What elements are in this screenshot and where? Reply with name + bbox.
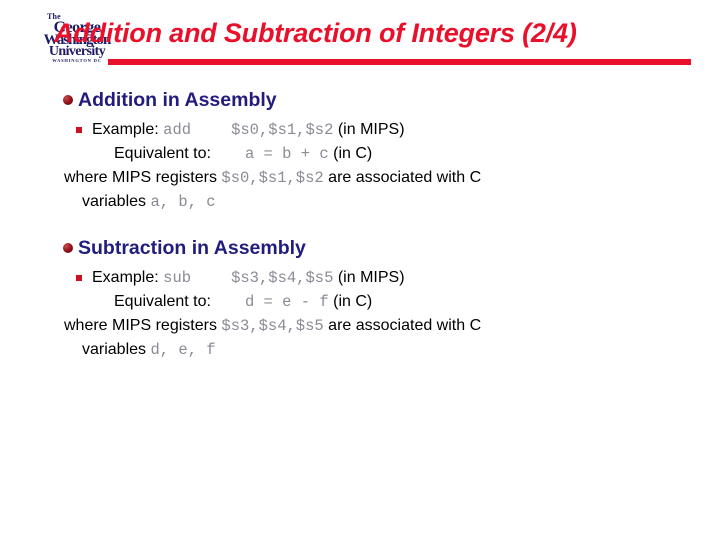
line-code-variables: d, e, f <box>150 341 215 359</box>
list-item: Example: add$s0,$s1,$s2 (in MIPS) <box>92 118 720 142</box>
list-item: where MIPS registers $s3,$s4,$s5 are ass… <box>64 314 720 338</box>
section-addition-lines: Example: add$s0,$s1,$s2 (in MIPS) Equiva… <box>0 118 720 214</box>
line-code-expression: d = e - f <box>245 293 329 311</box>
line-code-registers: $s0,$s1,$s2 <box>221 169 323 187</box>
line-label: variables <box>82 193 146 210</box>
heading-text: Addition in Assembly <box>78 89 277 111</box>
section-subtraction-lines: Example: sub$s3,$s4,$s5 (in MIPS) Equiva… <box>0 266 720 362</box>
heading-text: Subtraction in Assembly <box>78 237 306 259</box>
line-code-operands: $s0,$s1,$s2 <box>231 121 333 139</box>
line-tail: (in MIPS) <box>338 269 405 286</box>
line-tail: (in C) <box>333 145 372 162</box>
line-label: variables <box>82 341 146 358</box>
line-label: Example: <box>92 269 159 286</box>
list-item: variables a, b, c <box>82 190 720 214</box>
line-tail: are associated with C <box>328 169 481 186</box>
list-item: Equivalent to:a = b + c (in C) <box>92 142 720 166</box>
line-label: where MIPS registers <box>64 317 217 334</box>
line-code-variables: a, b, c <box>150 193 215 211</box>
line-tail: (in MIPS) <box>338 121 405 138</box>
line-label: Equivalent to: <box>114 293 211 310</box>
title-divider-rule <box>108 59 691 65</box>
line-label: where MIPS registers <box>64 169 217 186</box>
list-item: Equivalent to:d = e - f (in C) <box>92 290 720 314</box>
list-item: Example: sub$s3,$s4,$s5 (in MIPS) <box>92 266 720 290</box>
line-label: Equivalent to: <box>114 145 211 162</box>
section-heading-subtraction: Subtraction in Assembly <box>0 236 720 260</box>
line-code-mnemonic: sub <box>163 269 191 287</box>
list-item: variables d, e, f <box>82 338 720 362</box>
slide-header: The George Washington University WASHING… <box>0 0 720 80</box>
section-addition: Addition in Assembly Example: add$s0,$s1… <box>0 88 720 214</box>
line-code-operands: $s3,$s4,$s5 <box>231 269 333 287</box>
square-bullet-icon <box>76 127 82 133</box>
slide-body: Addition in Assembly Example: add$s0,$s1… <box>0 88 720 362</box>
square-bullet-icon <box>76 275 82 281</box>
line-tail: are associated with C <box>328 317 481 334</box>
line-code-mnemonic: add <box>163 121 191 139</box>
section-subtraction: Subtraction in Assembly Example: sub$s3,… <box>0 236 720 362</box>
line-label: Example: <box>92 121 159 138</box>
line-tail: (in C) <box>333 293 372 310</box>
sphere-bullet-icon <box>63 95 73 105</box>
line-code-expression: a = b + c <box>245 145 329 163</box>
sphere-bullet-icon <box>63 243 73 253</box>
page-title: Addition and Subtraction of Integers (2/… <box>54 18 714 49</box>
slide-root: { "slide": { "title": "Addition and Subt… <box>0 0 720 540</box>
list-item: where MIPS registers $s0,$s1,$s2 are ass… <box>64 166 720 190</box>
line-code-registers: $s3,$s4,$s5 <box>221 317 323 335</box>
section-heading-addition: Addition in Assembly <box>0 88 720 112</box>
